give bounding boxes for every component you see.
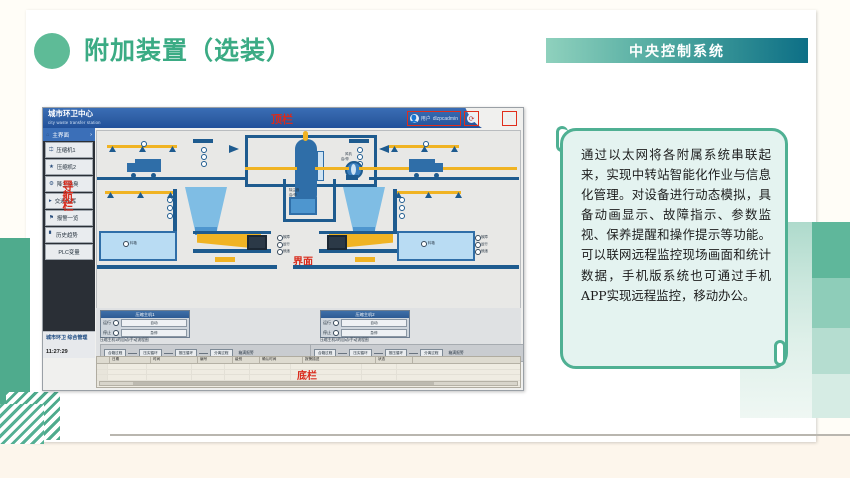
flow-connector — [374, 353, 383, 354]
hmi-logo: 城市环卫中心 city waste transfer station — [48, 109, 101, 127]
scrollbar-thumb[interactable] — [133, 382, 433, 386]
hmi-header-icons: 👤 用户 dlzpcadmin ⟳ — [407, 111, 479, 126]
alarm-table-header: 日期 时间 编号 级别 确认时间 报警描述 状态 — [97, 357, 520, 364]
refresh-button[interactable]: ⟳ — [464, 111, 479, 126]
floor-left — [97, 265, 277, 269]
control-panel-1-button-2[interactable]: 急停 — [121, 329, 187, 337]
hoist-beam-left — [193, 139, 213, 143]
rail-dot — [141, 141, 147, 147]
description-callout: 通过以太网将各附属系统串联起来，实现中转站智能化作业与信息化管理。对设备进行动态… — [560, 128, 788, 369]
bottom-divider-line — [110, 434, 850, 436]
control-panel-2-label-2: 停止 — [323, 330, 331, 336]
pipe-left — [245, 167, 297, 170]
sidebar-item-compressor-2[interactable]: ★ 压缩机2 — [45, 159, 93, 175]
user-icon: 👤 — [410, 114, 419, 123]
annotation-top-bar: 顶栏 — [271, 111, 293, 127]
traffic-icon: ▸ — [49, 198, 52, 204]
bin-left-lamp — [123, 241, 129, 247]
alarm-col-filler — [413, 357, 520, 363]
bin-left-label: 料箱 — [130, 240, 137, 245]
alarm-icon: ⚑ — [49, 215, 54, 221]
control-panel-2-caption: 压缩主机2的自动/手动流程图 — [320, 338, 369, 343]
control-panel-1-label-2: 停止 — [103, 330, 111, 336]
post-dot — [167, 213, 173, 219]
hoist-beam-right — [349, 139, 369, 143]
sidebar-item-home[interactable]: ⌂ 主界面 › — [43, 128, 95, 141]
section-banner: 中央控制系统 — [546, 38, 808, 63]
deodorizer-unit — [289, 197, 317, 215]
flow-end-right: 箱满报警 — [449, 351, 464, 356]
hoist-dot — [357, 147, 363, 153]
valve-left — [229, 145, 239, 153]
flow-connector — [409, 353, 418, 354]
callout-tail-bottom — [774, 340, 786, 366]
status-label-r3: 就绪 — [481, 248, 488, 253]
alarm-col-desc: 报警描述 — [303, 357, 376, 363]
alarm-col-index — [97, 357, 110, 363]
press-left-motor — [247, 235, 267, 250]
chevron-right-icon: › — [90, 132, 92, 138]
control-panel-1-button-1[interactable]: 自动 — [121, 319, 187, 327]
truck-right — [407, 159, 443, 175]
user-label: 用户 — [421, 115, 431, 122]
truck-cab — [434, 163, 443, 172]
alarm-col-time: 时间 — [151, 357, 198, 363]
control-panel-2-row-2[interactable]: 停止 急停 — [321, 328, 409, 338]
control-lamp-icon — [333, 330, 339, 336]
section-banner-label: 中央控制系统 — [629, 41, 725, 61]
refresh-icon: ⟳ — [467, 114, 476, 123]
post-dot — [399, 213, 405, 219]
hopper-left — [185, 187, 227, 231]
sidebar-label-4: 报警一览 — [57, 214, 79, 222]
wall-center-v1 — [283, 179, 286, 221]
home-icon: ⌂ — [46, 132, 49, 138]
control-panel-2-label-1: 运行 — [323, 320, 331, 326]
post-dot — [399, 197, 405, 203]
truck-wheel — [151, 173, 156, 178]
control-panel-2-button-2[interactable]: 急停 — [341, 329, 407, 337]
post-dot — [167, 205, 173, 211]
hmi-sidebar: ⌂ 主界面 › ⎅ 压缩机1 ★ 压缩机2 ⚙ 降尘除臭 ▸ 交通指挥 — [43, 128, 95, 358]
wall-center-bottom — [283, 219, 336, 222]
control-panel-1[interactable]: 压缩主机1 运行 自动 停止 急停 — [100, 310, 190, 338]
hopper-right — [343, 187, 385, 231]
status-label-r1: 故障 — [481, 234, 488, 239]
truck-body — [409, 159, 435, 172]
hoist-dot — [357, 154, 363, 160]
annotation-nav-bar: 导航栏 — [59, 180, 75, 210]
slide-background: 附加装置（选装） 中央控制系统 通过以太网将各附属系统串联起来，实现中转站智能化… — [0, 0, 850, 478]
sidebar-label-0: 压缩机1 — [56, 146, 75, 154]
rail-lower-left — [105, 191, 173, 194]
bin-left — [99, 231, 177, 261]
right-decor-block-4 — [812, 374, 850, 418]
control-panel-2-title: 压缩主机2 — [321, 311, 409, 318]
page-title: 附加装置（选装） — [84, 33, 292, 69]
status-label-r2: 运行 — [481, 241, 488, 246]
star-icon: ★ — [49, 164, 54, 170]
alarm-col-status: 状态 — [376, 357, 413, 363]
sidebar-item-history-trend[interactable]: ▘ 历史趋势 — [45, 227, 93, 243]
status-label-2: 运行 — [283, 241, 290, 246]
spray-icon: ⚙ — [49, 181, 54, 187]
post-left — [173, 189, 177, 231]
flow-end-left: 箱满报警 — [239, 351, 254, 356]
flow-connector — [338, 353, 347, 354]
left-decor-bar — [0, 238, 30, 406]
right-decor-block-2 — [812, 278, 850, 328]
flow-connector — [199, 353, 208, 354]
truck-wheel — [434, 173, 439, 178]
control-panel-1-row-2[interactable]: 停止 急停 — [101, 328, 189, 338]
sidebar-footer-time: 11:27:29 — [46, 349, 68, 355]
deodor-sublabel: 启/停 — [289, 192, 297, 197]
press-right-motor — [327, 235, 347, 250]
sidebar-footer: 城市环卫 综合管理 11:27:29 — [43, 331, 95, 358]
truck-wheel — [414, 173, 419, 178]
control-lamp-icon — [113, 320, 119, 326]
status-label-3: 就绪 — [283, 248, 290, 253]
alarm-col-ack-time: 确认时间 — [260, 357, 303, 363]
control-lamp-icon — [333, 320, 339, 326]
control-panel-1-caption: 压缩主机1的自动/手动流程图 — [100, 338, 149, 343]
right-decor-block-3 — [812, 328, 850, 374]
control-panel-1-row-1[interactable]: 运行 自动 — [101, 318, 189, 328]
control-panel-1-label-1: 运行 — [103, 320, 111, 326]
odor-tank — [295, 139, 317, 205]
user-info-box[interactable]: 👤 用户 dlzpcadmin — [407, 111, 461, 126]
flow-connector — [164, 353, 173, 354]
alarm-col-date: 日期 — [110, 357, 151, 363]
post-right — [393, 189, 397, 231]
sidebar-label-1: 压缩机2 — [57, 163, 76, 171]
wall-center-v2 — [333, 179, 336, 221]
tank-gauge — [317, 151, 324, 181]
actuator-left — [215, 257, 235, 262]
alarm-table-scrollbar[interactable] — [99, 381, 518, 387]
right-decor-block-1 — [812, 222, 850, 278]
truck-left — [127, 159, 163, 175]
sidebar-item-plc-vars[interactable]: PLC变量 — [45, 244, 93, 260]
left-decor-stripes-2 — [0, 404, 44, 444]
post-dot — [167, 197, 173, 203]
machine-icon: ⎅ — [49, 147, 53, 154]
sidebar-item-alarms[interactable]: ⚑ 报警一览 — [45, 210, 93, 226]
bin-right-lamp — [421, 241, 427, 247]
pipe-center — [315, 167, 349, 170]
press-left-top — [193, 231, 271, 234]
alarm-col-id: 编号 — [198, 357, 233, 363]
hoist-dot — [201, 147, 207, 153]
control-panel-2[interactable]: 压缩主机2 运行 自动 停止 急停 — [320, 310, 410, 338]
status-label-1: 故障 — [283, 234, 290, 239]
hmi-screenshot: 城市环卫中心 city waste transfer station 顶栏 👤 … — [42, 107, 524, 391]
exit-icon: ⎋ — [507, 115, 513, 123]
control-panel-2-button-1[interactable]: 自动 — [341, 319, 407, 327]
wall-right-mid — [369, 177, 519, 180]
title-bullet-dot — [34, 33, 70, 69]
hmi-control-strip: 压缩主机1 运行 自动 停止 急停 压缩主机1的自动/手动流程图 压缩主机2 运… — [96, 308, 521, 356]
fan-sublabel: 启/停 — [341, 156, 349, 161]
tank-vent — [303, 131, 308, 141]
wall-left-mid — [97, 177, 247, 180]
post-dot — [399, 205, 405, 211]
bin-right — [397, 231, 475, 261]
hoist-dot — [201, 154, 207, 160]
sidebar-footer-logo: 城市环卫 综合管理 — [46, 335, 87, 341]
sidebar-item-compressor-1[interactable]: ⎅ 压缩机1 — [45, 142, 93, 158]
hmi-logo-cn: 城市环卫中心 — [48, 109, 93, 118]
actuator-right — [355, 257, 375, 262]
sidebar-home-label: 主界面 — [52, 131, 69, 139]
description-text: 通过以太网将各附属系统串联起来，实现中转站智能化作业与信息化管理。对设备进行动态… — [581, 145, 771, 306]
alarm-table: 日期 时间 编号 级别 确认时间 报警描述 状态 底栏 — [96, 356, 521, 388]
control-panel-1-title: 压缩主机1 — [101, 311, 189, 318]
fan-base — [346, 175, 358, 180]
rail-lower-right — [393, 191, 461, 194]
truck-body — [135, 159, 161, 172]
control-lamp-icon — [113, 330, 119, 336]
control-panel-2-row-1[interactable]: 运行 自动 — [321, 318, 409, 328]
press-right-top — [319, 231, 397, 234]
hmi-logo-en: city waste transfer station — [48, 118, 101, 127]
user-name: dlzpcadmin — [433, 116, 458, 122]
flow-connector — [128, 353, 137, 354]
chart-icon: ▘ — [49, 232, 53, 238]
rail-dot — [423, 141, 429, 147]
floor-right — [293, 265, 519, 269]
exit-button[interactable]: ⎋ — [502, 111, 517, 126]
bin-right-label: 料箱 — [428, 240, 435, 245]
sidebar-label-5: 历史趋势 — [56, 231, 78, 239]
alarm-col-level: 级别 — [233, 357, 260, 363]
valve-right — [379, 145, 389, 153]
truck-wheel — [131, 173, 136, 178]
sidebar-label-6: PLC变量 — [58, 248, 79, 256]
hoist-dot — [201, 161, 207, 167]
